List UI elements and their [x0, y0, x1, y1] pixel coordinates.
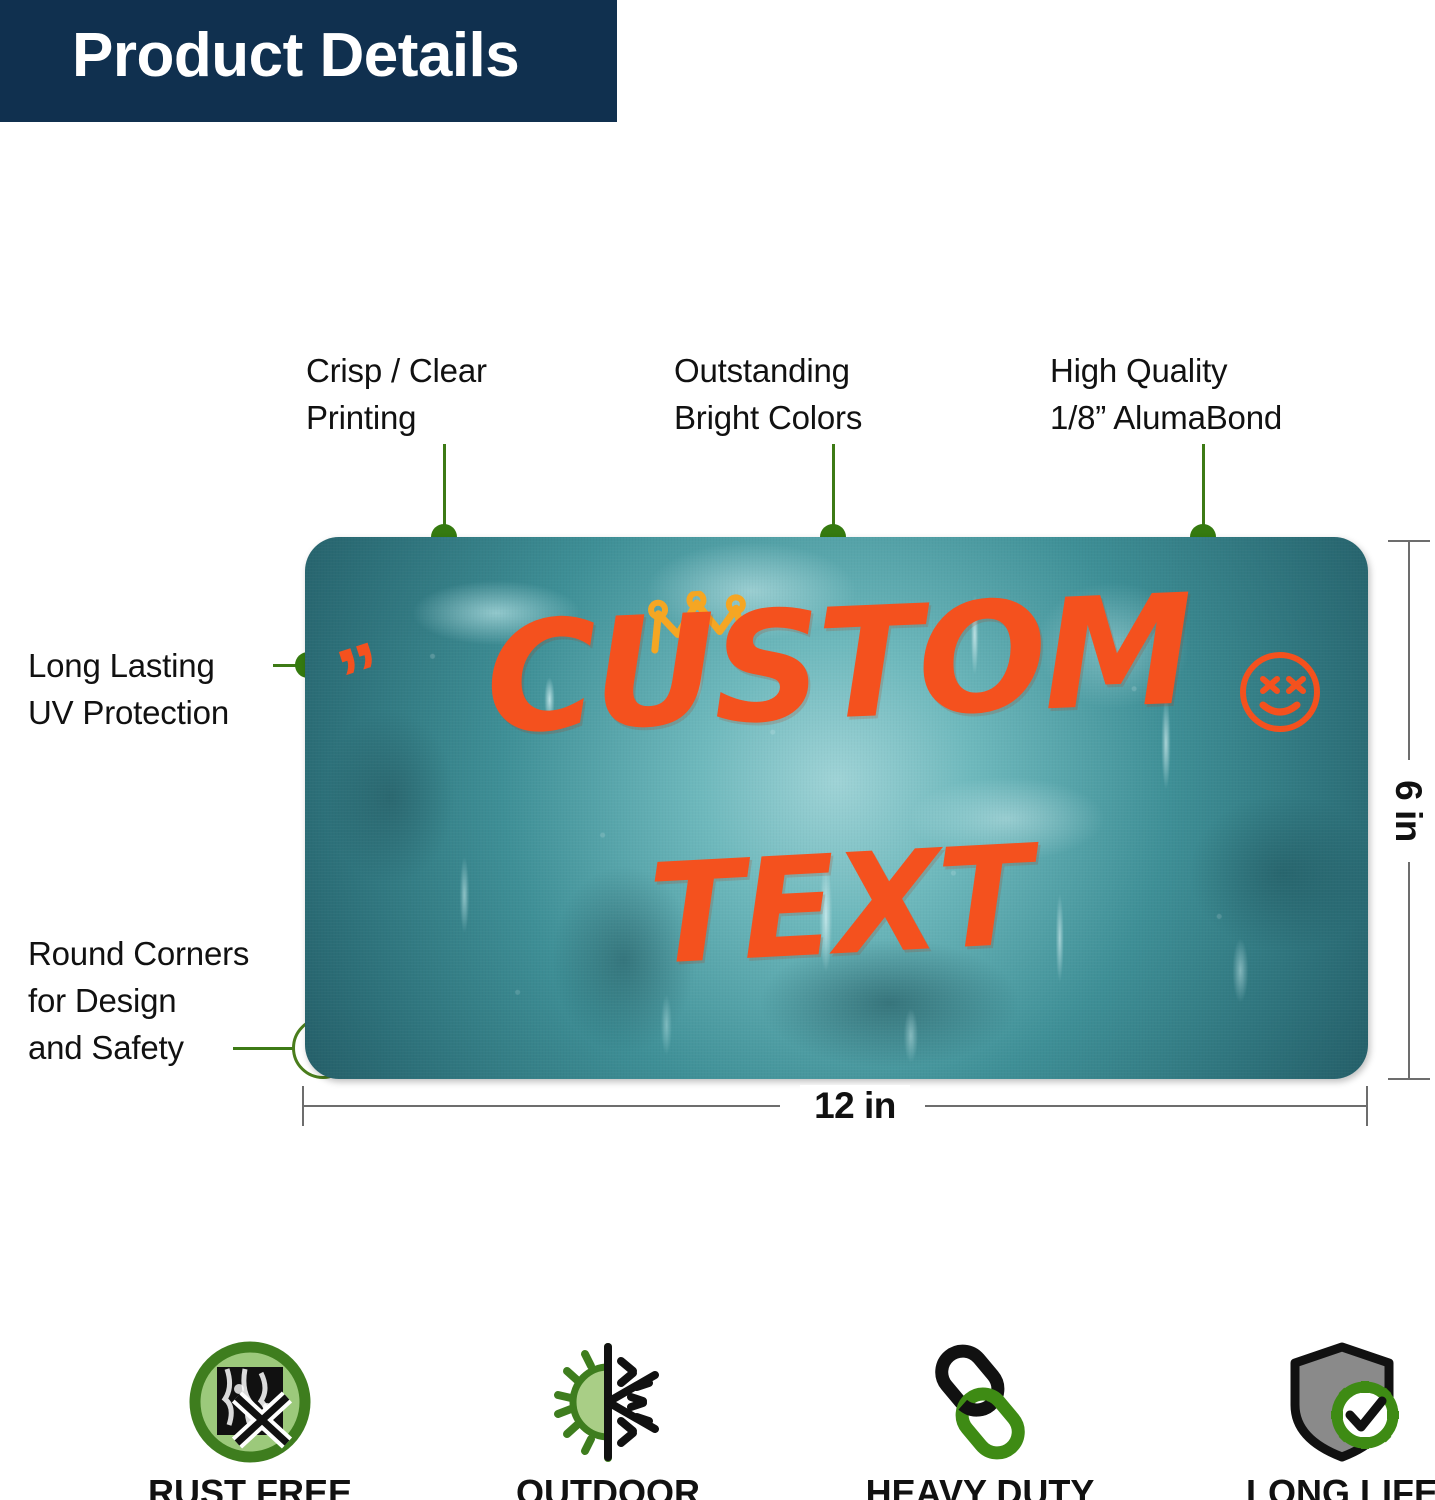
sign-custom-text-line1: CUSTOM	[340, 568, 1335, 761]
callout-high-quality-alumabond: High Quality 1/8” AlumaBond	[1050, 348, 1282, 442]
dim-line-width-left	[302, 1105, 780, 1107]
callout-round-corners: Round Corners for Design and Safety	[28, 931, 249, 1072]
dim-cap-bottom	[1388, 1078, 1430, 1080]
dim-line-height-lower	[1408, 862, 1410, 1080]
smiley-face-icon	[1237, 649, 1323, 735]
badge-label-rust-free: RUST FREE	[135, 1472, 365, 1500]
header-banner: Product Details	[0, 0, 617, 122]
badge-heavy-duty: HEAVY DUTY	[865, 1338, 1095, 1500]
badge-label-heavy-duty: HEAVY DUTY	[865, 1472, 1095, 1500]
dimension-height-label: 6 in	[1387, 763, 1429, 859]
leader-line-quality	[1202, 444, 1205, 526]
badge-outdoor: OUTDOOR	[493, 1338, 723, 1500]
badge-label-outdoor: OUTDOOR	[493, 1472, 723, 1500]
badge-rust-free: RUST FREE	[135, 1338, 365, 1500]
sun-snowflake-icon	[493, 1338, 723, 1466]
callout-long-lasting-uv-protection: Long Lasting UV Protection	[28, 643, 229, 737]
dim-cap-right	[1366, 1086, 1368, 1126]
badge-long-life: LONG LIFE	[1227, 1338, 1435, 1500]
dim-line-width-right	[925, 1105, 1368, 1107]
chain-link-icon	[865, 1338, 1095, 1466]
leader-line-crisp	[443, 444, 446, 526]
dim-line-height-upper	[1408, 540, 1410, 760]
leader-line-bright	[832, 444, 835, 526]
page-title: Product Details	[72, 20, 519, 91]
leader-line-corners	[233, 1047, 295, 1050]
dimension-width-label: 12 in	[800, 1085, 910, 1127]
rust-free-icon	[135, 1338, 365, 1466]
callout-crisp-clear-printing: Crisp / Clear Printing	[306, 348, 487, 442]
custom-sign-preview: ” CUSTOM TEXT	[305, 537, 1368, 1079]
product-details-infographic: Product Details Crisp / Clear Printing O…	[0, 0, 1435, 1500]
callout-outstanding-bright-colors: Outstanding Bright Colors	[674, 348, 862, 442]
shield-clock-icon	[1227, 1338, 1435, 1466]
badge-label-long-life: LONG LIFE	[1227, 1472, 1435, 1500]
